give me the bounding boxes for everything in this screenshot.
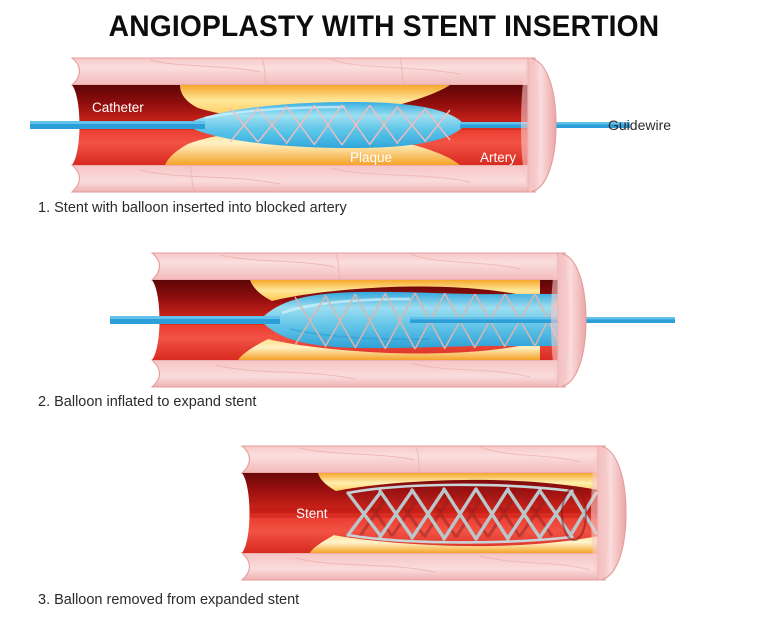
artery-wall-top (242, 446, 605, 473)
artery-right-cap (521, 58, 556, 192)
caption-step-1: 1. Stent with balloon inserted into bloc… (38, 200, 347, 216)
label-artery: Artery (480, 150, 516, 165)
caption-step-2: 2. Balloon inflated to expand stent (38, 394, 256, 410)
angioplasty-figure: ANGIOPLASTY WITH STENT INSERTION (0, 0, 768, 624)
page-title: ANGIOPLASTY WITH STENT INSERTION (23, 10, 745, 44)
label-catheter: Catheter (92, 100, 144, 115)
label-stent: Stent (296, 506, 328, 521)
label-guidewire: Guidewire (608, 117, 671, 133)
artery-right-cap (591, 446, 626, 580)
artery-wall-bottom (72, 165, 535, 192)
panel-3-illustration: Stent (200, 438, 700, 588)
caption-step-3: 3. Balloon removed from expanded stent (38, 592, 299, 608)
artery-wall-bottom (242, 553, 605, 580)
artery-wall-top (152, 253, 565, 280)
artery-wall-bottom (152, 360, 565, 387)
artery-wall-top (72, 58, 535, 85)
panel-1-illustration: Catheter Plaque Artery Guidewire (30, 50, 690, 200)
panel-2-illustration (110, 245, 680, 395)
artery-right-cap (551, 253, 586, 387)
label-plaque: Plaque (350, 150, 392, 165)
